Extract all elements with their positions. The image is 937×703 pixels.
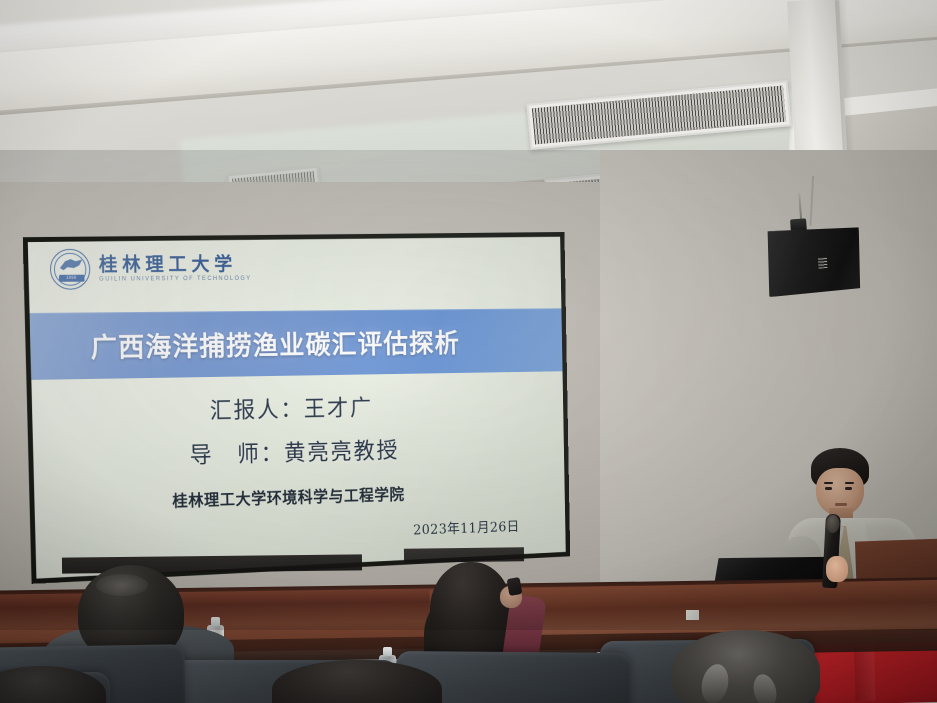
presentation-slide: 1956 桂林理工大学 GUILIN UNIVERSITY OF TECHNOL… bbox=[28, 237, 566, 579]
speaker-enclosure bbox=[763, 225, 863, 298]
presenter-eye-left bbox=[825, 487, 832, 490]
slide-date-line: 2023年11月26日 bbox=[413, 517, 520, 540]
slide-school-line: 桂林理工大学环境科学与工程学院 bbox=[33, 477, 565, 516]
slide-presenter-line: 汇报人：王才广 bbox=[31, 385, 564, 429]
phone-icon bbox=[507, 577, 523, 596]
screen-frame: 1956 桂林理工大学 GUILIN UNIVERSITY OF TECHNOL… bbox=[23, 232, 571, 584]
slide-advisor-line: 导 师：黄亮亮教授 bbox=[32, 428, 565, 474]
wall-trim-right bbox=[404, 547, 524, 562]
university-seal-icon: 1956 bbox=[50, 249, 91, 290]
presenter-brow-left bbox=[824, 482, 833, 484]
hair-gray-streak bbox=[698, 662, 732, 703]
presenter-mouth bbox=[835, 503, 847, 506]
slide-title-band: 广西海洋捕捞渔业碳汇评估探析 bbox=[29, 308, 562, 380]
logo-wordmark: 桂林理工大学 GUILIN UNIVERSITY OF TECHNOLOGY bbox=[99, 255, 252, 282]
hair-gray-streak bbox=[750, 672, 780, 703]
slide-title: 广西海洋捕捞渔业碳汇评估探析 bbox=[90, 322, 460, 365]
seal-wing-icon bbox=[60, 259, 83, 274]
projection-screen[interactable]: 1956 桂林理工大学 GUILIN UNIVERSITY OF TECHNOL… bbox=[23, 232, 571, 584]
presenter-brow-right bbox=[845, 482, 854, 484]
presenter-hand bbox=[826, 556, 848, 582]
hair-highlight bbox=[96, 574, 148, 596]
audience-member-front-right bbox=[672, 630, 820, 703]
speaker-vent-icon bbox=[818, 257, 828, 269]
wall-speaker bbox=[763, 225, 863, 298]
university-logo: 1956 桂林理工大学 GUILIN UNIVERSITY OF TECHNOL… bbox=[50, 249, 252, 290]
seal-year-band: 1956 bbox=[58, 275, 84, 282]
seal-year-text: 1956 bbox=[66, 276, 76, 280]
logo-chinese-name: 桂林理工大学 bbox=[99, 255, 252, 275]
photograph-scene: 1956 桂林理工大学 GUILIN UNIVERSITY OF TECHNOL… bbox=[0, 0, 937, 703]
presenter-eye-right bbox=[845, 487, 852, 490]
paper-cup-far bbox=[686, 610, 699, 620]
audience-member-center bbox=[430, 562, 512, 662]
logo-english-name: GUILIN UNIVERSITY OF TECHNOLOGY bbox=[99, 276, 251, 283]
